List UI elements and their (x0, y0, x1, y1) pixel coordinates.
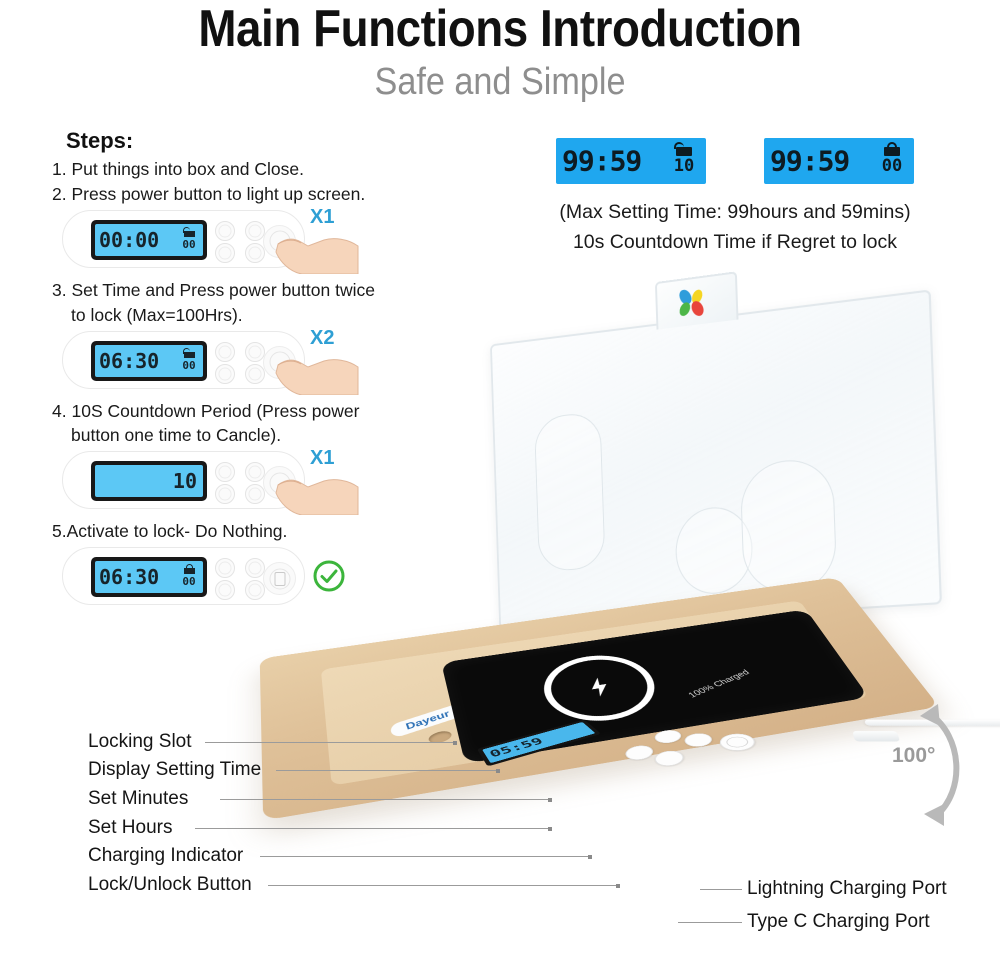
set-hour-down-button[interactable] (215, 580, 235, 600)
lightning-cable-plug (852, 731, 900, 741)
step-2-number: 2. (52, 184, 67, 204)
display-locked: 99:59 00 (764, 138, 914, 184)
status-area-right: 00 (877, 142, 907, 175)
step-1-number: 1. (52, 159, 67, 179)
lcd-screen: 06:30 00 (95, 561, 203, 593)
leader-line-set-minutes (220, 799, 550, 800)
lock-open-icon (184, 348, 195, 358)
step-3-text: Set Time and Press power button twice (71, 280, 374, 300)
callout-lightning-port: Lightning Charging Port (747, 878, 947, 900)
lcd-time-value: 06:30 (99, 565, 159, 589)
page-title: Main Functions Introduction (60, 2, 940, 57)
callout-type-c-port: Type C Charging Port (747, 911, 930, 933)
leader-line-set-hours (195, 828, 550, 829)
lock-closed-icon (884, 142, 900, 156)
lcd-status-area: 00 (179, 227, 199, 253)
pinwheel-logo-icon (675, 286, 709, 322)
pointing-hand-icon (268, 226, 360, 274)
lcd-sub-value: 00 (179, 239, 199, 251)
callout-charging-indicator: Charging Indicator (88, 845, 243, 867)
step-3-number: 3. (52, 280, 67, 300)
leader-line-charging-indicator (260, 856, 590, 857)
leader-line-lock-unlock-button (268, 885, 618, 886)
callout-lock-unlock-button: Lock/Unlock Button (88, 874, 252, 896)
step-item-1: 1. Put things into box and Close. (52, 159, 412, 181)
leader-line-display-setting-time (276, 770, 498, 771)
status-area-left: 10 (669, 142, 699, 175)
set-hour-down-button[interactable] (215, 484, 235, 504)
callout-locking-slot: Locking Slot (88, 731, 192, 753)
lcd-frame: 00:00 00 (91, 220, 207, 260)
max-time-displays: 99:59 10 99:59 00 (500, 138, 970, 184)
charge-status-text: 100% Charged (686, 669, 751, 700)
lcd-countdown-value: 10 (173, 469, 197, 493)
lcd-status-area: 00 (179, 348, 199, 374)
set-hours-up-button[interactable] (651, 748, 689, 769)
lock-open-icon (676, 142, 692, 156)
lcd-screen: 10 (95, 465, 203, 497)
lcd-sub-value: 00 (179, 576, 199, 588)
set-hour-down-button[interactable] (215, 243, 235, 263)
set-hour-up-button[interactable] (215, 462, 235, 482)
lcd-frame: 10 (91, 461, 207, 501)
lock-closed-icon (184, 564, 195, 574)
max-time-note-1: (Max Setting Time: 99hours and 59mins) (500, 198, 970, 226)
step-item-2: 2. Press power button to light up screen… (52, 184, 412, 206)
angle-label: 100° (892, 744, 935, 768)
step-4-number: 4. (52, 401, 67, 421)
step-2-panel: 00:00 00 X1 (62, 210, 362, 272)
lid-cutout-camera (534, 411, 606, 572)
lid-tab (655, 271, 739, 329)
step-item-3: 3. Set Time and Press power button twice (52, 280, 412, 302)
step-5-number: 5. (52, 521, 67, 541)
callout-set-minutes: Set Minutes (88, 788, 188, 810)
set-hour-up-button[interactable] (215, 558, 235, 578)
device-lock-unlock-button[interactable] (714, 731, 762, 754)
base-inner-tray: Dayeur 100% Charged (321, 600, 869, 785)
lightning-bolt-icon (585, 676, 614, 697)
press-count-label: X1 (310, 206, 334, 229)
max-time-right-value: 99:59 (770, 145, 849, 178)
wooden-base: Dayeur 100% Charged 05:59 (260, 577, 940, 820)
lcd-frame: 06:30 00 (91, 341, 207, 381)
callout-display-setting-time: Display Setting Time (88, 759, 261, 781)
lcd-time-value: 00:00 (99, 228, 159, 252)
set-minutes-down-button[interactable] (680, 731, 717, 749)
set-minute-down-button[interactable] (245, 243, 265, 263)
page-subtitle: Safe and Simple (50, 63, 950, 103)
lcd-time-value: 06:30 (99, 349, 159, 373)
max-time-note-2: 10s Countdown Time if Regret to lock (500, 228, 970, 256)
wireless-charging-ring-icon (534, 649, 667, 729)
max-time-left-value: 99:59 (562, 145, 641, 178)
leader-line-lightning-port (700, 889, 742, 890)
lcd-screen: 00:00 00 (95, 224, 203, 256)
set-minute-up-button[interactable] (245, 221, 265, 241)
display-unlocked: 99:59 10 (556, 138, 706, 184)
steps-heading: Steps: (66, 128, 412, 154)
product-illustration: Dayeur 100% Charged 05:59 (240, 300, 1000, 920)
set-hour-down-button[interactable] (215, 364, 235, 384)
max-time-section: 99:59 10 99:59 00 (Max Setting Time: 99h… (500, 138, 970, 257)
leader-line-type-c-port (678, 922, 742, 923)
set-hours-down-button[interactable] (622, 743, 658, 763)
lid-cutout-oval (740, 456, 838, 596)
leader-line-locking-slot (205, 742, 455, 743)
step-1-text: Put things into box and Close. (71, 159, 304, 179)
lcd-sub-value: 00 (179, 360, 199, 372)
callout-set-hours: Set Hours (88, 817, 172, 839)
countdown-right-value: 00 (877, 157, 907, 175)
hinge-angle-indicator: 100° (900, 690, 1000, 840)
lock-open-icon (184, 227, 195, 237)
lcd-screen: 06:30 00 (95, 345, 203, 377)
acrylic-lid (490, 289, 942, 630)
countdown-left-value: 10 (669, 157, 699, 175)
step-2-text: Press power button to light up screen. (71, 184, 365, 204)
lcd-status-area: 00 (179, 564, 199, 590)
page-header: Main Functions Introduction Safe and Sim… (0, 0, 1000, 102)
set-hour-up-button[interactable] (215, 221, 235, 241)
set-hour-up-button[interactable] (215, 342, 235, 362)
lcd-frame: 06:30 00 (91, 557, 207, 597)
